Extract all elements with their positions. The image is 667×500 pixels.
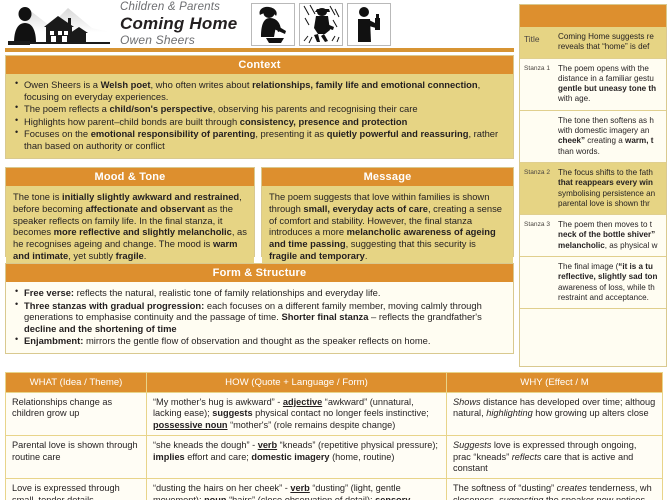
woman-kneading-dough-icon: [251, 3, 295, 46]
sidebar-row-stanza1a: Stanza 1 The poem opens with thedistance…: [520, 59, 666, 111]
sidebar-row-label: Stanza 2: [520, 163, 556, 214]
column-header-how: HOW (Quote + Language / Form): [147, 373, 447, 393]
message-text: The poem suggests that love within famil…: [269, 191, 506, 262]
cell-how: “My mother's hug is awkward” - adjective…: [147, 393, 447, 436]
cell-how: “she kneads the dough” - verb “kneads” (…: [147, 436, 447, 479]
list-item: Enjambment: mirrors the gentle flow of o…: [13, 335, 506, 347]
sidebar-row-text: Coming Home suggests rereveals that “hom…: [556, 27, 666, 58]
cell-why: Shows distance has developed over time; …: [447, 393, 663, 436]
list-item: The poem reflects a child/son's perspect…: [13, 103, 506, 115]
revision-sheet-page: Children & Parents Coming Home Owen Shee…: [0, 0, 667, 500]
cell-what: Love is expressed through small, tender …: [6, 479, 147, 500]
sidebar-row-stanza3b: The final image (“it is a tureflective, …: [520, 257, 666, 309]
cottage-and-figure-illustration: [6, 2, 114, 46]
sidebar-row-text: The focus shifts to the faththat reappea…: [556, 163, 666, 214]
mood-tone-panel: Mood & Tone The tone is initially slight…: [5, 167, 255, 257]
list-item: Focuses on the emotional responsibility …: [13, 128, 506, 151]
context-body: Owen Sheers is a Welsh poet, who often w…: [6, 74, 513, 158]
context-panel: Context Owen Sheers is a Welsh poet, who…: [5, 55, 514, 159]
man-pouring-icon: [347, 3, 391, 46]
mood-tone-body: The tone is initially slightly awkward a…: [6, 186, 254, 267]
form-structure-heading: Form & Structure: [6, 264, 513, 282]
sidebar-row-label: Stanza 1: [520, 59, 556, 110]
header-divider-rule: [5, 48, 514, 52]
message-body: The poem suggests that love within famil…: [262, 186, 513, 267]
column-header-why: WHY (Effect / M: [447, 373, 663, 393]
man-in-rain-icon: [299, 3, 343, 46]
sidebar-row-label: [520, 111, 556, 162]
form-structure-body: Free verse: reflects the natural, realis…: [6, 282, 513, 353]
sidebar-row-label: Title: [520, 27, 556, 58]
sidebar-row-stanza3a: Stanza 3 The poem then moves to tneck of…: [520, 215, 666, 257]
form-structure-panel: Form & Structure Free verse: reflects th…: [5, 263, 514, 354]
message-heading: Message: [262, 168, 513, 186]
table-row: Parental love is shown through routine c…: [6, 436, 663, 479]
message-panel: Message The poem suggests that love with…: [261, 167, 514, 257]
list-item: Owen Sheers is a Welsh poet, who often w…: [13, 79, 506, 102]
table-row: Relationships change as children grow up…: [6, 393, 663, 436]
sidebar-row-title: Title Coming Home suggests rereveals tha…: [520, 27, 666, 59]
cell-why: The softness of “dusting” creates tender…: [447, 479, 663, 500]
context-heading: Context: [6, 56, 513, 74]
sidebar-row-text: The poem then moves to tneck of the bott…: [556, 215, 666, 256]
masthead-kicker: Children & Parents: [120, 1, 250, 14]
list-item: Free verse: reflects the natural, realis…: [13, 287, 506, 299]
what-how-why-table: WHAT (Idea / Theme) HOW (Quote + Languag…: [5, 372, 663, 500]
page-title: Coming Home: [120, 14, 250, 33]
sidebar-row-text: The poem opens with thedistance in a fam…: [556, 59, 666, 110]
sidebar-header-bar: [520, 5, 666, 27]
cell-what: Relationships change as children grow up: [6, 393, 147, 436]
cell-why: Suggests love is expressed through ongoi…: [447, 436, 663, 479]
sidebar-row-text: The tone then softens as hwith domestic …: [556, 111, 666, 162]
sidebar-row-stanza2: Stanza 2 The focus shifts to the faththa…: [520, 163, 666, 215]
masthead-image-strip: [251, 3, 391, 46]
cell-how: “dusting the hairs on her cheek” - verb …: [147, 479, 447, 500]
mood-tone-heading: Mood & Tone: [6, 168, 254, 186]
mood-tone-text: The tone is initially slightly awkward a…: [13, 191, 247, 262]
context-bullet-list: Owen Sheers is a Welsh poet, who often w…: [13, 79, 506, 152]
masthead: Children & Parents Coming Home Owen Shee…: [0, 0, 519, 47]
stanza-summary-sidebar: Title Coming Home suggests rereveals tha…: [519, 4, 667, 367]
sidebar-row-stanza1b: The tone then softens as hwith domestic …: [520, 111, 666, 163]
column-header-what: WHAT (Idea / Theme): [6, 373, 147, 393]
table-header-row: WHAT (Idea / Theme) HOW (Quote + Languag…: [6, 373, 663, 393]
sidebar-row-label: Stanza 3: [520, 215, 556, 256]
list-item: Highlights how parent–child bonds are bu…: [13, 116, 506, 128]
table-row: Love is expressed through small, tender …: [6, 479, 663, 500]
masthead-titles: Children & Parents Coming Home Owen Shee…: [120, 1, 250, 47]
form-structure-bullet-list: Free verse: reflects the natural, realis…: [13, 287, 506, 347]
cell-what: Parental love is shown through routine c…: [6, 436, 147, 479]
sidebar-row-label: [520, 257, 556, 308]
sidebar-row-text: The final image (“it is a tureflective, …: [556, 257, 666, 308]
poem-author: Owen Sheers: [120, 33, 250, 47]
list-item: Three stanzas with gradual progression: …: [13, 300, 506, 335]
